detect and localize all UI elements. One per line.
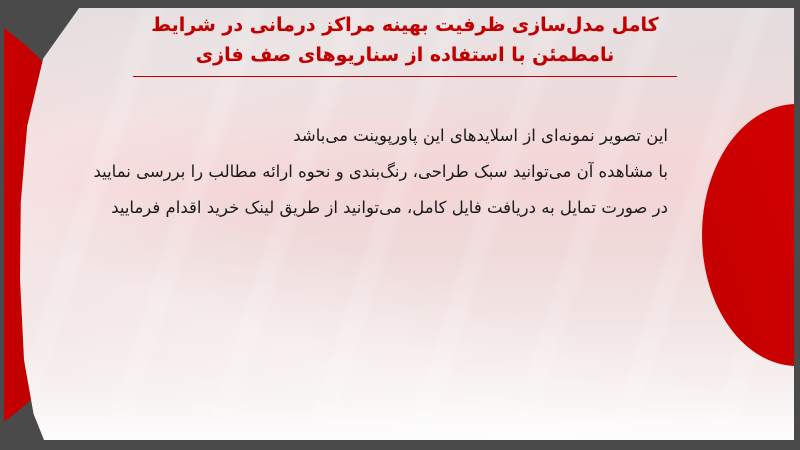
body-line-1: این تصویر نمونه‌ای از اسلایدهای این پاور… [28,118,668,154]
title-underline-rule [133,76,677,77]
slide-frame-left [0,0,4,450]
slide-title-line-2: نامطمئن با استفاده از سناریوهای صف فازی [120,40,690,70]
slide-title: کامل مدل‌سازی ظرفیت بهینه مراکز درمانی د… [120,10,690,77]
body-line-2: با مشاهده آن می‌توانید سبک طراحی، رنگ‌بن… [28,154,668,190]
slide-title-line-1: کامل مدل‌سازی ظرفیت بهینه مراکز درمانی د… [120,10,690,40]
slide-frame-bottom [0,440,800,450]
slide-frame-top [0,0,800,8]
body-line-3: در صورت تمایل به دریافت فایل کامل، می‌تو… [28,190,668,226]
presentation-slide: کامل مدل‌سازی ظرفیت بهینه مراکز درمانی د… [0,0,800,450]
slide-body-text: این تصویر نمونه‌ای از اسلایدهای این پاور… [28,118,668,226]
slide-frame-right [794,0,800,450]
